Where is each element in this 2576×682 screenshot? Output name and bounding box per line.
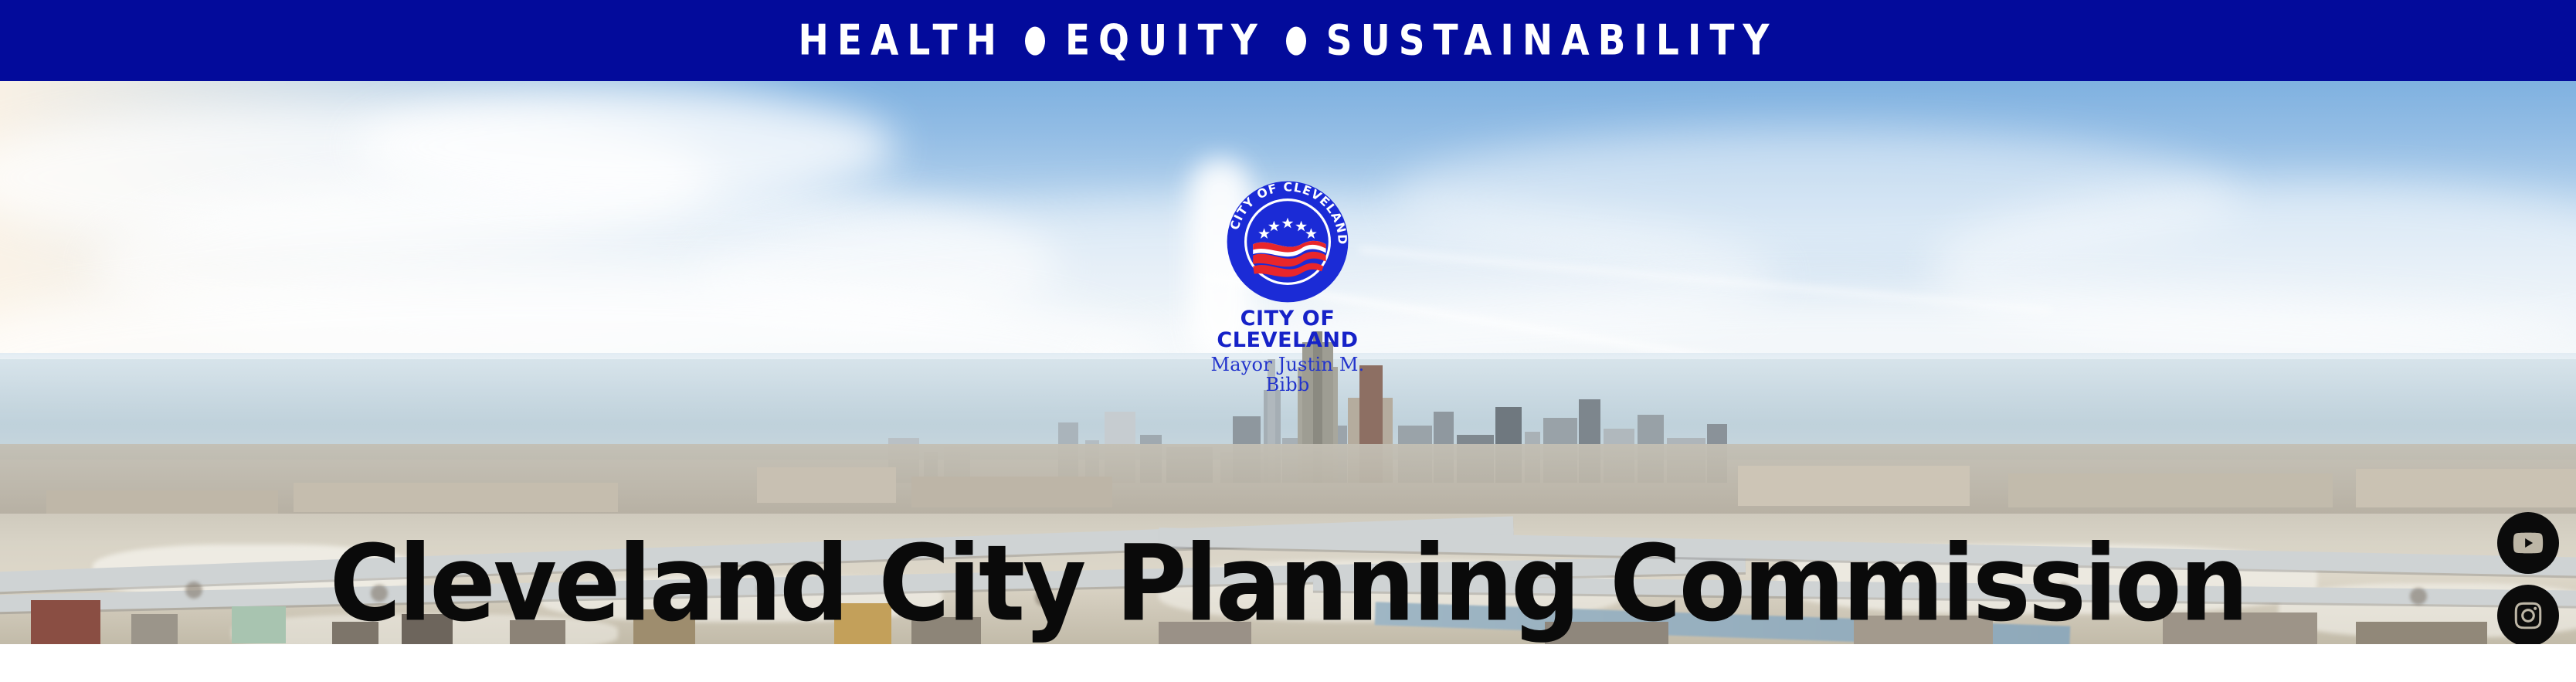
bullet-dot-icon-2 <box>1266 17 1326 59</box>
organization-name: CITY OF CLEVELAND <box>1199 308 1376 352</box>
city-seal-block: CITY OF CLEVELAND OHIO <box>1199 180 1376 395</box>
top-banner: HEALTHEQUITYSUSTAINABILITY <box>0 0 2576 81</box>
page-title: Cleveland City Planning Commission <box>0 531 2576 636</box>
mayor-name: Mayor Justin M. Bibb <box>1199 355 1376 395</box>
hero-banner-photo: CITY OF CLEVELAND OHIO <box>0 81 2576 644</box>
bullet-dot-icon <box>1005 17 1065 59</box>
footer-strip <box>0 644 2576 682</box>
youtube-icon[interactable] <box>2497 512 2559 574</box>
instagram-icon[interactable] <box>2497 585 2559 644</box>
social-links <box>2497 512 2559 644</box>
banner-value-equity: EQUITY <box>1065 16 1266 66</box>
banner-value-health: HEALTH <box>799 16 1005 66</box>
top-banner-text: HEALTHEQUITYSUSTAINABILITY <box>799 19 1778 62</box>
banner-value-sustainability: SUSTAINABILITY <box>1326 16 1778 66</box>
city-of-cleveland-seal-icon: CITY OF CLEVELAND OHIO <box>1226 180 1349 304</box>
cloud <box>355 89 896 205</box>
